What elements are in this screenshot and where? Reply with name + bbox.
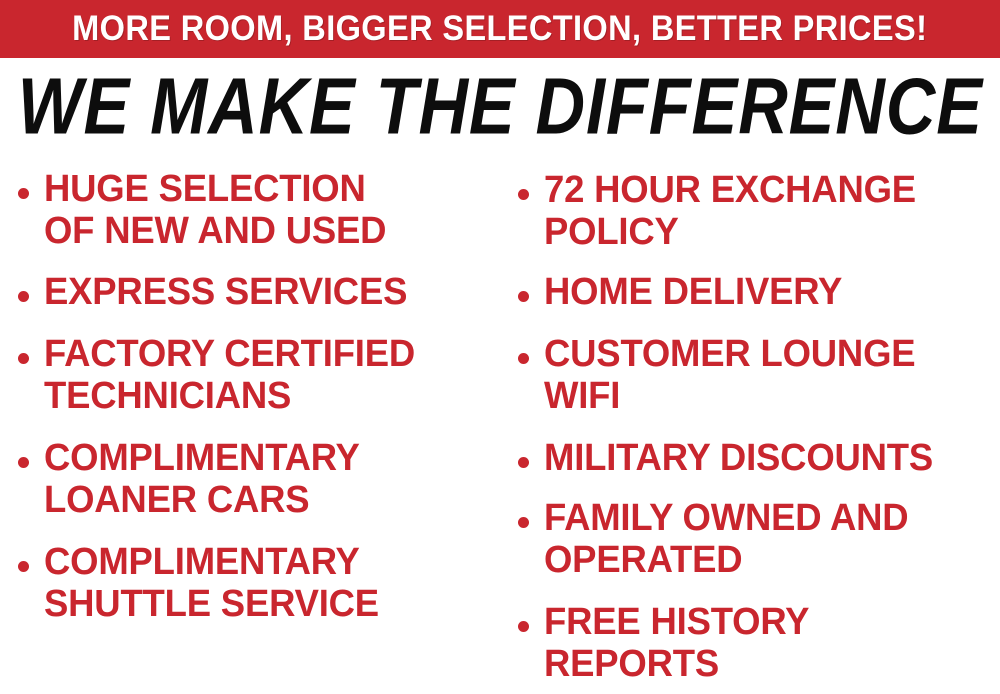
list-item: FAMILY OWNED AND OPERATED — [518, 497, 1000, 581]
bullet-dot-icon — [518, 621, 529, 632]
list-item-label: FAMILY OWNED AND OPERATED — [544, 497, 908, 581]
headline-container: WE MAKE THE DIFFERENCE — [0, 63, 1000, 148]
bullet-dot-icon — [518, 353, 529, 364]
bullet-dot-icon — [518, 457, 529, 468]
list-item-label: 72 HOUR EXCHANGE POLICY — [544, 169, 916, 253]
list-item: FREE HISTORY REPORTS — [518, 601, 1000, 685]
bullet-dot-icon — [18, 188, 29, 199]
list-item-label: HOME DELIVERY — [544, 271, 842, 313]
list-item-label: CUSTOMER LOUNGE WIFI — [544, 333, 915, 417]
list-item-label: EXPRESS SERVICES — [44, 271, 407, 313]
list-item-label: COMPLIMENTARY SHUTTLE SERVICE — [44, 541, 379, 625]
list-item: FACTORY CERTIFIED TECHNICIANS — [18, 333, 498, 417]
bullet-dot-icon — [518, 517, 529, 528]
bullet-dot-icon — [518, 291, 529, 302]
top-banner: MORE ROOM, BIGGER SELECTION, BETTER PRIC… — [0, 0, 1000, 58]
list-item-label: HUGE SELECTION OF NEW AND USED — [44, 168, 386, 252]
promotional-poster: MORE ROOM, BIGGER SELECTION, BETTER PRIC… — [0, 0, 1000, 694]
bullet-dot-icon — [18, 353, 29, 364]
list-item: COMPLIMENTARY SHUTTLE SERVICE — [18, 541, 498, 625]
list-item: MILITARY DISCOUNTS — [518, 437, 1000, 479]
list-item: 72 HOUR EXCHANGE POLICY — [518, 169, 1000, 253]
list-item-label: FREE HISTORY REPORTS — [544, 601, 809, 685]
list-item-label: FACTORY CERTIFIED TECHNICIANS — [44, 333, 415, 417]
benefits-column-left: HUGE SELECTION OF NEW AND USED EXPRESS S… — [18, 155, 498, 625]
list-item: CUSTOMER LOUNGE WIFI — [518, 333, 1000, 417]
list-item-label: COMPLIMENTARY LOANER CARS — [44, 437, 360, 521]
bullet-dot-icon — [518, 189, 529, 200]
bullet-dot-icon — [18, 291, 29, 302]
main-headline: WE MAKE THE DIFFERENCE — [17, 65, 982, 147]
benefits-columns: HUGE SELECTION OF NEW AND USED EXPRESS S… — [0, 155, 1000, 694]
benefits-column-right: 72 HOUR EXCHANGE POLICY HOME DELIVERY CU… — [518, 155, 1000, 685]
list-item: COMPLIMENTARY LOANER CARS — [18, 437, 498, 521]
list-item-label: MILITARY DISCOUNTS — [544, 437, 933, 479]
list-item: EXPRESS SERVICES — [18, 271, 498, 313]
top-banner-headline: MORE ROOM, BIGGER SELECTION, BETTER PRIC… — [72, 11, 927, 47]
list-item: HUGE SELECTION OF NEW AND USED — [18, 168, 498, 252]
bullet-dot-icon — [18, 561, 29, 572]
list-item: HOME DELIVERY — [518, 271, 1000, 313]
bullet-dot-icon — [18, 457, 29, 468]
